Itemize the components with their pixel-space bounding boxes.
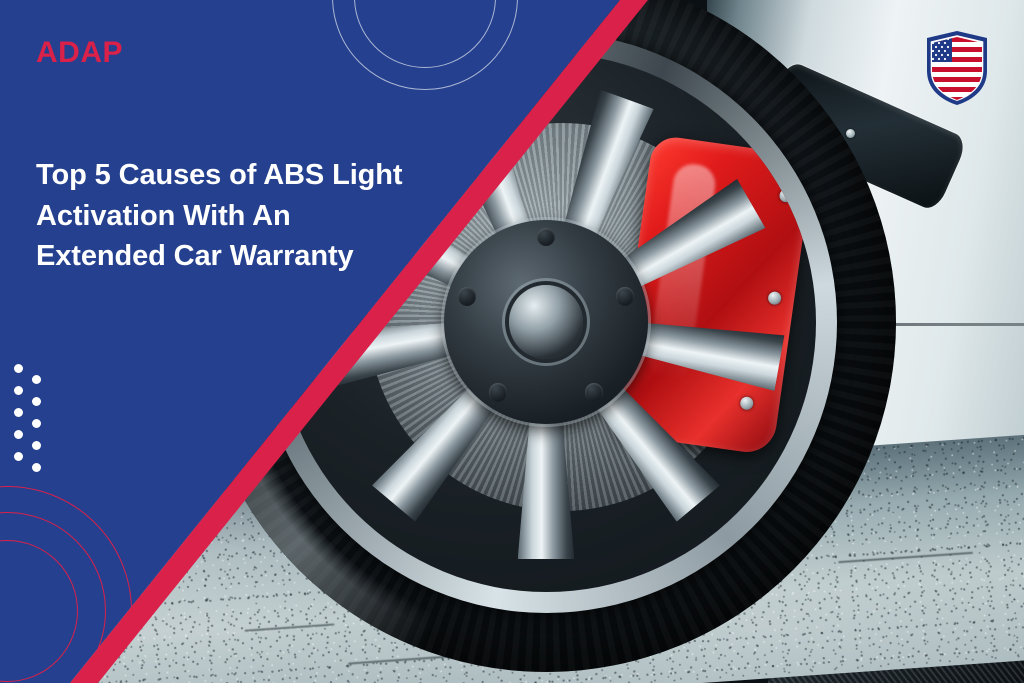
caliper-bolt-1 [778, 189, 793, 204]
lug-nut [458, 287, 476, 305]
hub-cap [509, 285, 583, 359]
grid-dot [14, 386, 23, 395]
lug-nut [585, 383, 603, 401]
caliper-bolt-2 [767, 291, 782, 306]
page-title: Top 5 Causes of ABS Light Activation Wit… [36, 155, 416, 277]
usa-flag-shield-icon [926, 30, 988, 106]
caliper-bolt-3 [740, 396, 755, 411]
adap-logo: ADAP [36, 36, 123, 70]
concentric-white-arcs [310, 0, 540, 112]
lug-nut [616, 287, 634, 305]
lug-nut [489, 383, 507, 401]
grid-dot [14, 364, 23, 373]
grid-dot [14, 430, 23, 439]
grid-dot [32, 375, 41, 384]
grid-dot [32, 441, 41, 450]
abs-warranty-banner: ADAP Top 5 Causes of ABS Light Activatio… [0, 0, 1024, 683]
grid-dot [32, 463, 41, 472]
grid-dot [14, 452, 23, 461]
lug-nut [537, 228, 555, 246]
grid-dot [14, 408, 23, 417]
grid-dot [32, 397, 41, 406]
grid-dot [32, 419, 41, 428]
wheel-hub [444, 220, 649, 425]
